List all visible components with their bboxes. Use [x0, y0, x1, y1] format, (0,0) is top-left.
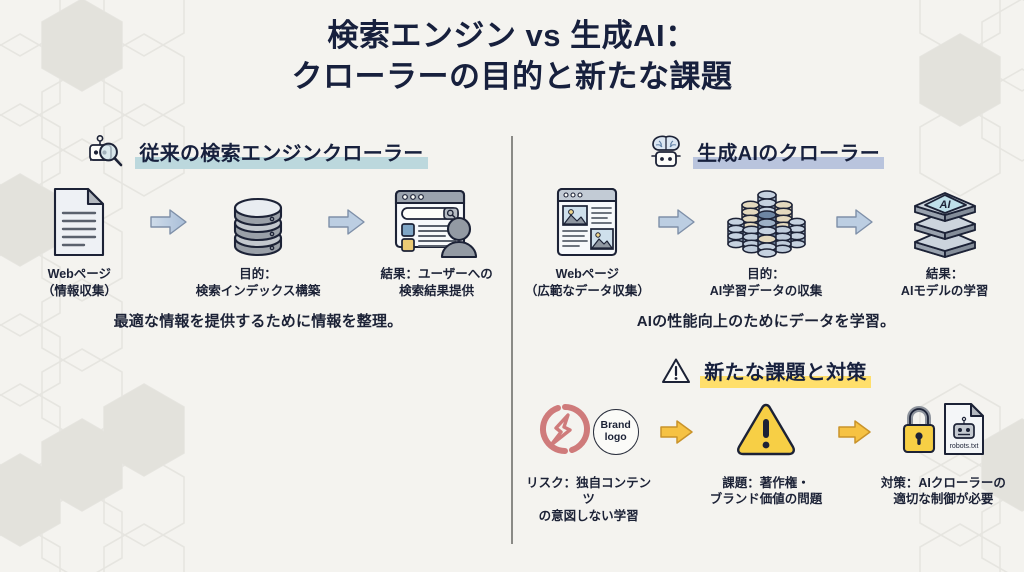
- arrow-right-blue-icon: [833, 184, 877, 260]
- right-column: 生成AIのクローラー: [520, 132, 1012, 525]
- webpage-media-icon: [554, 184, 620, 260]
- arrow-right-blue-icon: [147, 184, 191, 260]
- column-divider: [511, 136, 513, 544]
- risk-label-1: リスク：独自コンテンツ の意図しない学習: [520, 475, 657, 526]
- document-icon: [50, 184, 108, 260]
- svg-text:AI: AI: [938, 199, 951, 211]
- arrow-right-blue-icon: [655, 184, 699, 260]
- right-flow-node-3: AI 結果： AIモデルの学習: [877, 184, 1012, 300]
- infographic-slide: 検索エンジン vs 生成AI： クローラーの目的と新たな課題 従来の検索エンジン…: [0, 0, 1024, 572]
- left-summary-text: 最適な情報を提供するために情報を整理。: [12, 310, 504, 331]
- broken-prohibition-icon: [539, 403, 591, 460]
- right-flow-label-1: Webページ （広範なデータ収集）: [525, 266, 650, 300]
- right-flow-node-1: Webページ （広範なデータ収集）: [520, 184, 655, 300]
- brand-logo-line-2: logo: [605, 432, 627, 444]
- warning-triangle-icon: [661, 357, 691, 384]
- svg-text:robots.txt: robots.txt: [950, 443, 979, 450]
- padlock-icon: [899, 402, 939, 461]
- arrow-right-yellow-icon: [835, 401, 875, 463]
- risks-row: Brand logo リスク：独自コンテンツ の意図しない学習: [520, 401, 1012, 526]
- brand-logo-line-1: Brand: [600, 420, 630, 432]
- left-flow-row: Webページ （情報収集）: [12, 184, 504, 300]
- left-section-header: 従来の検索エンジンクローラー: [12, 132, 504, 172]
- database-icon: [227, 184, 289, 260]
- robot-magnifier-icon: [88, 135, 126, 169]
- risk-node-3: robots.txt 対策：AIクローラーの 適切な制御が必要: [875, 401, 1012, 509]
- ai-model-stack-icon: AI: [907, 184, 983, 260]
- brand-logo-circle-icon: Brand logo: [593, 409, 639, 455]
- right-section-title: 生成AIのクローラー: [693, 137, 884, 167]
- arrow-right-yellow-icon: [657, 401, 697, 463]
- left-flow-label-1: Webページ （情報収集）: [42, 266, 117, 300]
- left-flow-node-1: Webページ （情報収集）: [12, 184, 147, 300]
- arrow-right-blue-icon: [325, 184, 369, 260]
- warning-triangle-large-icon: [735, 401, 797, 462]
- risk-label-2: 課題：著作権・ ブランド価値の問題: [710, 475, 823, 509]
- brain-robot-icon: [648, 134, 684, 170]
- right-flow-label-3: 結果： AIモデルの学習: [901, 266, 989, 300]
- risks-section-header: 新たな課題と対策: [520, 351, 1012, 391]
- robots-txt-file-icon: robots.txt: [941, 401, 987, 462]
- right-section-header: 生成AIのクローラー: [520, 132, 1012, 172]
- left-flow-label-3: 結果：ユーザーへの 検索結果提供: [381, 266, 493, 300]
- page-title: 検索エンジン vs 生成AI： クローラーの目的と新たな課題: [0, 16, 1024, 98]
- risk-label-3: 対策：AIクローラーの 適切な制御が必要: [881, 475, 1006, 509]
- left-column: 従来の検索エンジンクローラー: [12, 132, 504, 331]
- left-flow-label-2: 目的： 検索インデックス構築: [196, 266, 321, 300]
- left-flow-node-3: 結果：ユーザーへの 検索結果提供: [369, 184, 504, 300]
- right-flow-row: Webページ （広範なデータ収集）: [520, 184, 1012, 300]
- right-flow-node-2: 目的： AI学習データの収集: [699, 184, 834, 300]
- title-line-2: クローラーの目的と新たな課題: [0, 57, 1024, 98]
- left-section-title: 従来の検索エンジンクローラー: [135, 137, 427, 167]
- risk-node-2: 課題：著作権・ ブランド価値の問題: [697, 401, 834, 509]
- right-flow-label-2: 目的： AI学習データの収集: [710, 266, 823, 300]
- risk-node-1: Brand logo リスク：独自コンテンツ の意図しない学習: [520, 401, 657, 526]
- browser-user-icon: [393, 184, 481, 260]
- risks-section-title: 新たな課題と対策: [700, 356, 870, 386]
- left-flow-node-2: 目的： 検索インデックス構築: [191, 184, 326, 300]
- risks-block: 新たな課題と対策 Brand l: [520, 351, 1012, 526]
- title-line-1: 検索エンジン vs 生成AI：: [327, 18, 696, 53]
- right-summary-text: AIの性能向上のためにデータを学習。: [520, 310, 1012, 331]
- data-coins-icon: [725, 184, 807, 260]
